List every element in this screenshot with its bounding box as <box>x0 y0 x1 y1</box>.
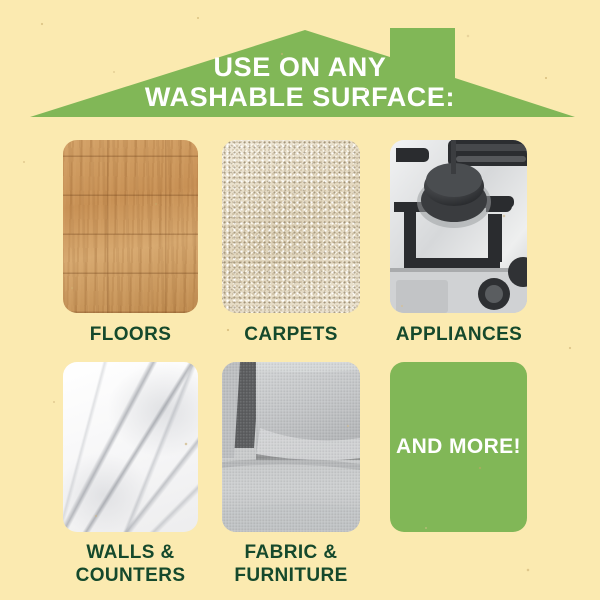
tile-caption-carpets: CARPETS <box>208 323 374 346</box>
tile-image-walls-counters[interactable] <box>63 362 198 532</box>
tile-image-fabric-furniture[interactable] <box>222 362 360 532</box>
tile-image-carpets[interactable] <box>222 140 360 313</box>
tile-image-floors[interactable] <box>63 140 198 313</box>
gas-stovetop-icon <box>390 140 527 313</box>
tile-caption-walls-counters: WALLS & COUNTERS <box>43 541 218 587</box>
title-line-2: WASHABLE SURFACE: <box>0 82 600 112</box>
tile-caption-fabric-furniture: FABRIC & FURNITURE <box>203 541 379 587</box>
title-line-1: USE ON ANY <box>0 52 600 82</box>
promo-infographic: USE ON ANY WASHABLE SURFACE: FLOORS CARP… <box>0 0 600 600</box>
header-banner: USE ON ANY WASHABLE SURFACE: <box>0 0 600 125</box>
sofa-cushion-icon <box>222 362 360 532</box>
tile-caption-floors: FLOORS <box>48 323 213 346</box>
page-title: USE ON ANY WASHABLE SURFACE: <box>0 52 600 112</box>
and-more-label: AND MORE! <box>396 435 521 459</box>
tile-and-more[interactable]: AND MORE! <box>390 362 527 532</box>
tile-caption-appliances: APPLIANCES <box>373 323 545 346</box>
tile-image-appliances[interactable] <box>390 140 527 313</box>
